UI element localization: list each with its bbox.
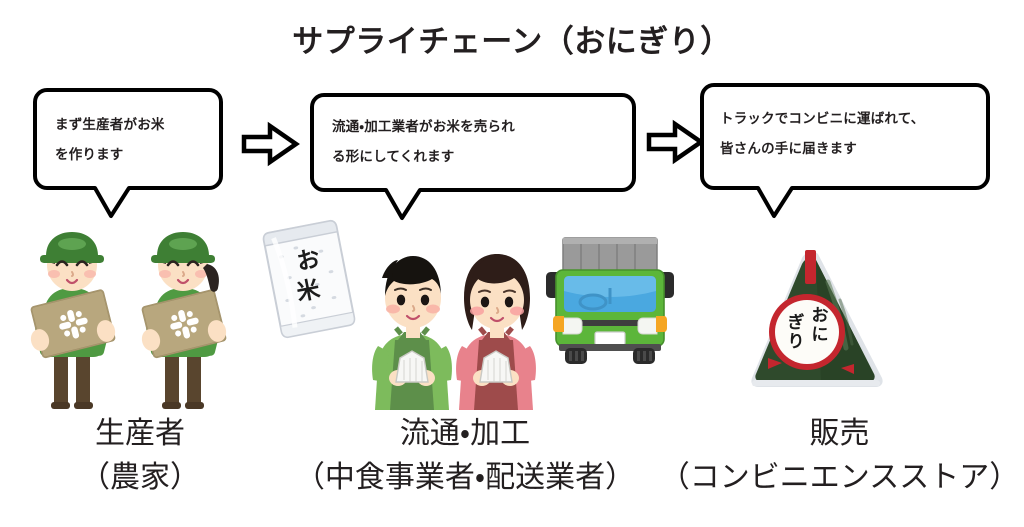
- caption-retail: 販売 （コンビニエンスストア）: [655, 412, 1024, 500]
- caption-producer: 生産者 （農家）: [0, 412, 280, 500]
- speech-bubble-retail-text: トラックでコンビニに運ばれて、 皆さんの手に届きます: [720, 104, 976, 164]
- onigiri-illustration: お に ぎ り: [732, 248, 912, 400]
- speech-bubble-producer: まず生産者がお米 を作ります: [33, 88, 223, 190]
- speech-bubble-producer-text: まず生産者がお米 を作ります: [55, 110, 209, 170]
- worker-male: [372, 256, 452, 410]
- truck-illustration: [541, 230, 679, 370]
- arrow-distribution-to-retail-icon: [645, 118, 707, 166]
- page-title: サプライチェーン（おにぎり）: [0, 16, 1024, 61]
- speech-bubble-distribution-text: 流通・加工業者がお米を売られ る形にしてくれます: [332, 112, 622, 172]
- speech-bubble-distribution: 流通・加工業者がお米を売られ る形にしてくれます: [310, 93, 636, 192]
- supply-chain-diagram: サプライチェーン（おにぎり） まず生産者がお米 を作ります 流通・加工業者がお米…: [0, 0, 1024, 527]
- farmer-left: [29, 232, 118, 409]
- arrow-producer-to-distribution-icon: [240, 120, 302, 168]
- speech-bubble-retail: トラックでコンビニに運ばれて、 皆さんの手に届きます: [700, 83, 990, 190]
- worker-female: [456, 254, 536, 410]
- svg-text:に: に: [812, 325, 829, 344]
- workers-illustration: [368, 248, 544, 412]
- rice-bag-illustration: お 米: [256, 216, 362, 342]
- svg-text:り: り: [788, 332, 805, 351]
- farmers-illustration: [22, 228, 237, 410]
- caption-distribution: 流通・加工 （中食事業者・配送業者）: [245, 412, 685, 500]
- svg-text:ぎ: ぎ: [788, 312, 805, 332]
- svg-text:お: お: [295, 245, 323, 275]
- farmer-right: [140, 232, 229, 409]
- svg-text:お: お: [812, 306, 829, 325]
